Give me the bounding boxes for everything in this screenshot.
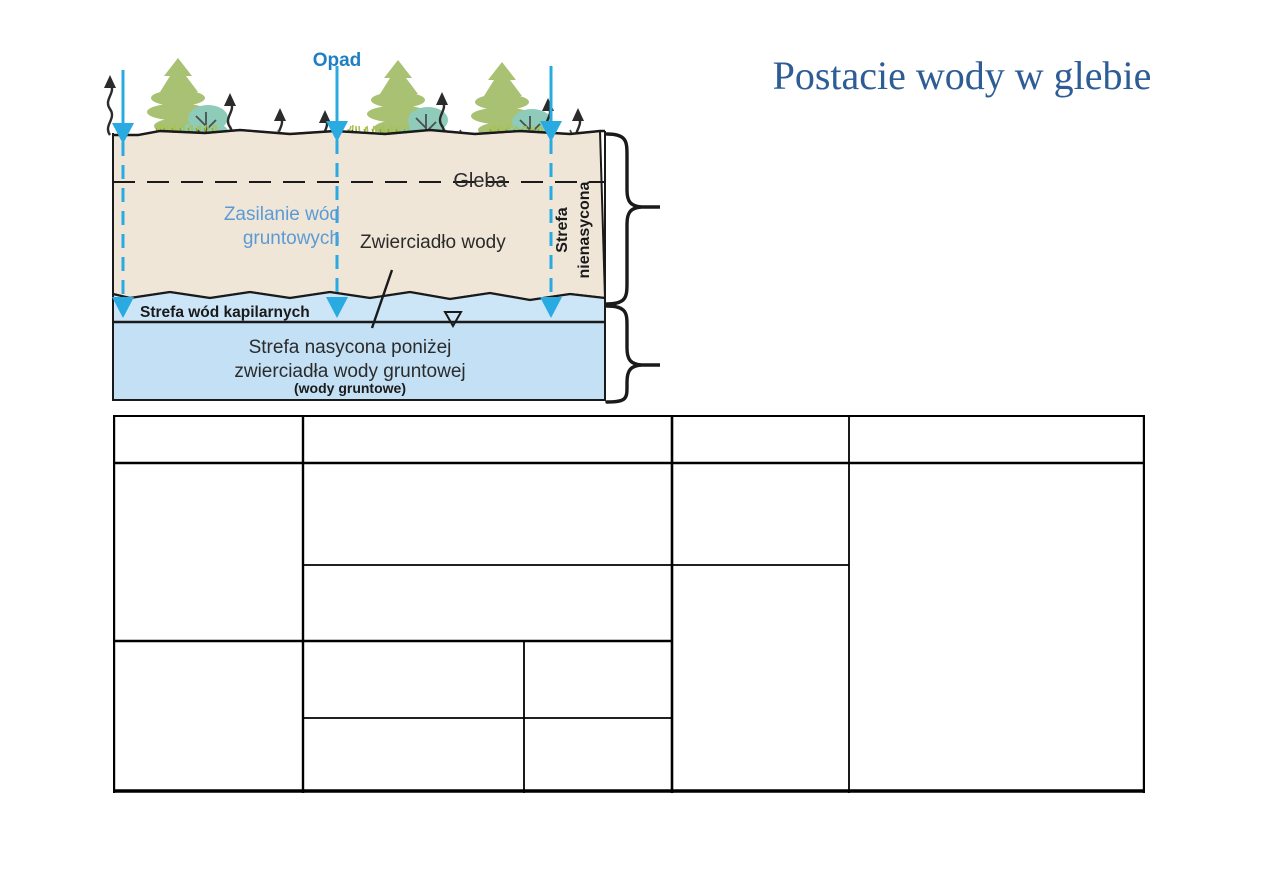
table-cell[interactable] <box>303 641 524 718</box>
table-cell[interactable] <box>303 718 524 793</box>
label-gleba: Gleba <box>453 170 507 192</box>
label-strefa-nienasycona-line2: nienasycona <box>576 181 593 278</box>
table-cell[interactable] <box>849 463 1145 793</box>
table-cell[interactable] <box>672 565 849 793</box>
brace-unsaturated-zone <box>607 134 660 304</box>
unsaturated-zone-block <box>113 130 605 300</box>
table-cell[interactable] <box>524 718 672 793</box>
table-cell[interactable] <box>303 463 672 565</box>
table-cell[interactable] <box>672 415 849 463</box>
table-cell[interactable] <box>113 463 303 641</box>
page-title: Postacie wody w glebie <box>752 54 1172 99</box>
label-opad: Opad <box>313 50 362 71</box>
table-cell[interactable] <box>524 641 672 718</box>
table-cell[interactable] <box>303 565 672 641</box>
table-cell[interactable] <box>849 415 1145 463</box>
table-cell[interactable] <box>672 463 849 565</box>
table-cell[interactable] <box>113 641 303 793</box>
brace-saturated-zone <box>607 306 660 402</box>
label-strefa-wod-kapilarnych: Strefa wód kapilarnych <box>140 304 310 321</box>
water-forms-table[interactable] <box>113 415 1145 793</box>
label-recharge-line2: gruntowych <box>243 228 340 249</box>
label-strefa-nasycona-line1: Strefa nasycona poniżej <box>249 337 452 358</box>
label-wody-gruntowe: (wody gruntowe) <box>294 380 406 396</box>
table-cell[interactable] <box>113 415 303 463</box>
soil-water-zones-diagram: Opad Gleba Zasilanie wód gruntowych Zwie… <box>100 30 660 410</box>
label-recharge-line1: Zasilanie wód <box>224 204 340 225</box>
label-zwierciadlo-wody: Zwierciadło wody <box>360 232 506 253</box>
label-strefa-nienasycona-line1: Strefa <box>554 207 571 252</box>
label-strefa-nasycona-line2: zwierciadła wody gruntowej <box>234 361 465 382</box>
table-cell[interactable] <box>303 415 672 463</box>
